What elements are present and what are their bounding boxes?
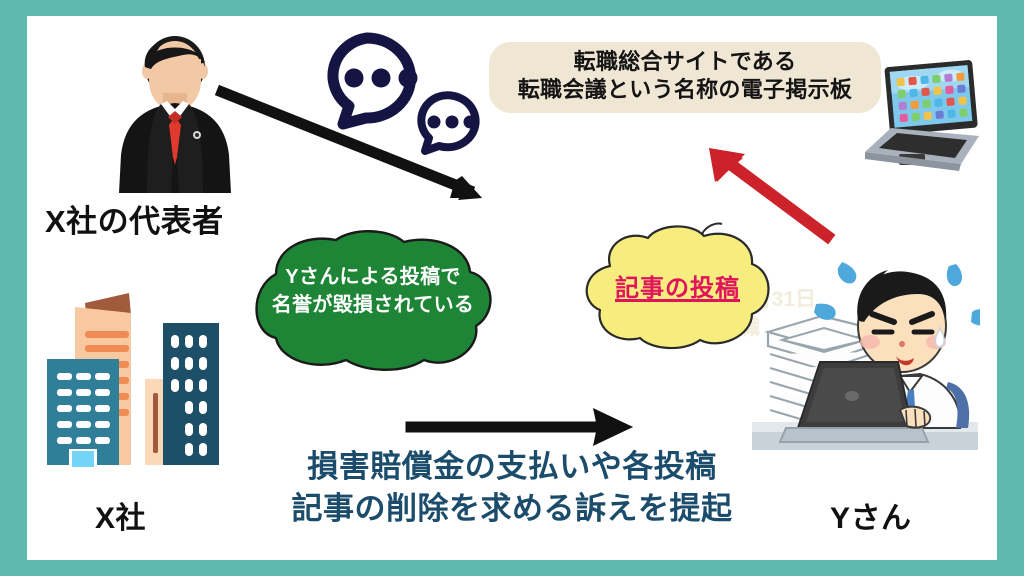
- site-callout-line-2: 転職会議という名称の電子掲示板: [499, 76, 871, 104]
- lawsuit-statement: 損害賠償金の支払いや各投稿 記事の削除を求める訴えを提起: [232, 446, 792, 529]
- lawsuit-statement-line-1: 損害賠償金の支払いや各投稿: [232, 446, 792, 488]
- defamation-claim-bubble: Yさんによる投稿で 名誉が毀損されている: [232, 226, 514, 374]
- label-x-representative: X社の代表者: [45, 196, 224, 241]
- site-description-callout: 転職総合サイトである 転職会議という名称の電子掲示板: [489, 42, 881, 113]
- green-blob-line-1: Yさんによる投稿で: [232, 263, 514, 291]
- article-posting-bubble: 記事の投稿: [570, 222, 785, 352]
- article-posting-label: 記事の投稿: [570, 268, 785, 303]
- green-blob-line-2: 名誉が毀損されている: [232, 291, 514, 319]
- infographic-canvas: X社の代表者 転職総合サイトである 転職会議という名称の電: [0, 0, 1024, 576]
- lawsuit-statement-line-2: 記事の削除を求める訴えを提起: [232, 488, 792, 530]
- label-x-company: X社: [95, 493, 146, 537]
- label-y-person: Yさん: [830, 493, 912, 537]
- site-callout-line-1: 転職総合サイトである: [499, 48, 871, 76]
